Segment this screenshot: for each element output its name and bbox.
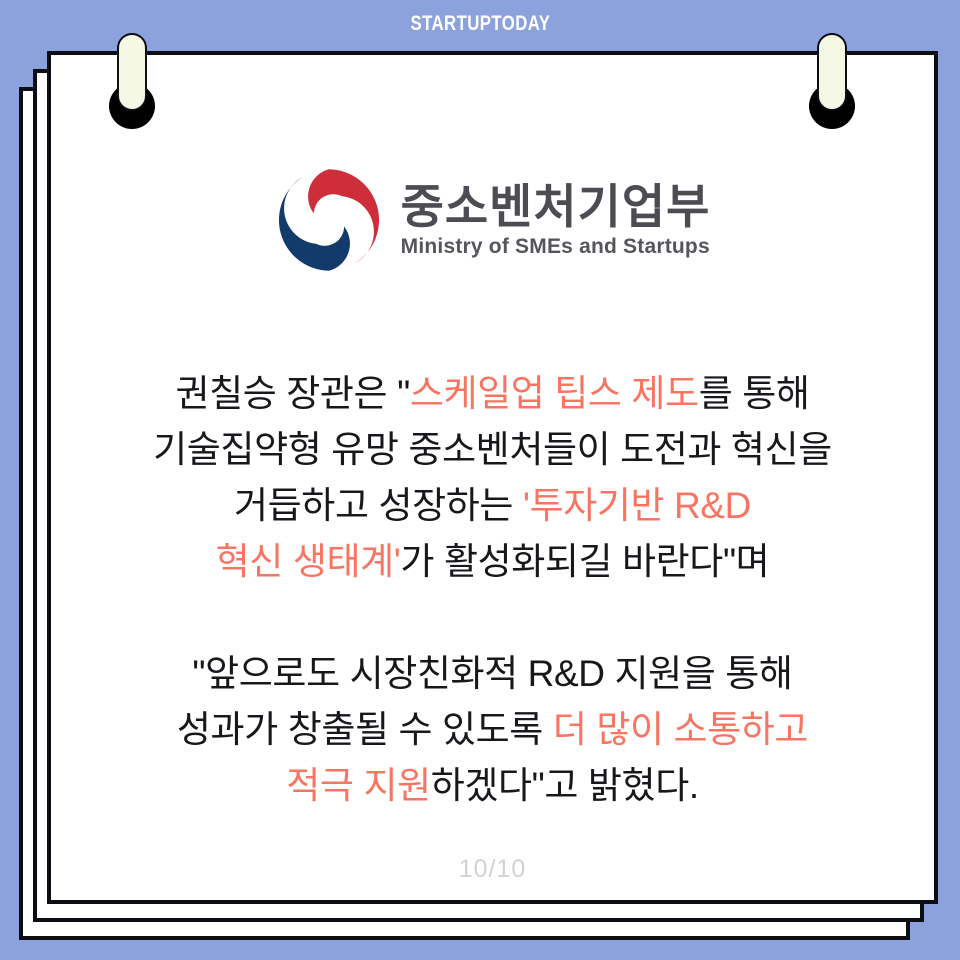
- quote-highlight: 스케일업 팁스 제도: [410, 373, 699, 414]
- card-root: STARTUPTODAY 중소벤처기업부 Ministry of SMEs an…: [0, 0, 960, 960]
- quote-text: 권칠승 장관은 ": [175, 373, 409, 414]
- quote-line: 적극 지원하겠다"고 밝혔다.: [47, 758, 938, 814]
- card-content: 중소벤처기업부 Ministry of SMEs and Startups 권칠…: [47, 51, 938, 904]
- quote-line: 권칠승 장관은 "스케일업 팁스 제도를 통해: [47, 366, 938, 422]
- ministry-name-english: Ministry of SMEs and Startups: [401, 235, 710, 258]
- quote-text: 거듭하고 성장하는: [234, 485, 523, 526]
- quote-text: 를 통해: [699, 373, 810, 414]
- quote-line: 혁신 생태계'가 활성화되길 바란다"며: [47, 534, 938, 590]
- brand-name: STARTUPTODAY: [410, 12, 550, 36]
- quote-paragraph-1: 권칠승 장관은 "스케일업 팁스 제도를 통해기술집약형 유망 중소벤처들이 도…: [47, 366, 938, 590]
- quote-text: 가 활성화되길 바란다"며: [400, 541, 769, 582]
- quote-text: "앞으로도 시장친화적 R&D 지원을 통해: [192, 653, 792, 694]
- brand-header: STARTUPTODAY: [0, 12, 960, 36]
- quote-line: 거듭하고 성장하는 '투자기반 R&D: [47, 478, 938, 534]
- quote-text: 기술집약형 유망 중소벤처들이 도전과 혁신을: [153, 429, 832, 470]
- quote-text: 하겠다"고 밝혔다.: [431, 765, 699, 806]
- quote-line: 기술집약형 유망 중소벤처들이 도전과 혁신을: [47, 422, 938, 478]
- quote-highlight: 더 많이 소통하고: [553, 709, 808, 750]
- quote-highlight: 적극 지원: [286, 765, 430, 806]
- quote-line: 성과가 창출될 수 있도록 더 많이 소통하고: [47, 702, 938, 758]
- quote-body: 권칠승 장관은 "스케일업 팁스 제도를 통해기술집약형 유망 중소벤처들이 도…: [47, 366, 938, 814]
- quote-highlight: 혁신 생태계': [216, 541, 401, 582]
- quote-paragraph-2: "앞으로도 시장친화적 R&D 지원을 통해성과가 창출될 수 있도록 더 많이…: [47, 646, 938, 814]
- page-counter: 10/10: [47, 855, 938, 884]
- quote-line: "앞으로도 시장친화적 R&D 지원을 통해: [47, 646, 938, 702]
- taegeuk-icon: [275, 166, 383, 274]
- quote-highlight: '투자기반 R&D: [523, 485, 751, 526]
- ministry-logo: 중소벤처기업부 Ministry of SMEs and Startups: [47, 166, 938, 274]
- quote-text: 성과가 창출될 수 있도록: [177, 709, 553, 750]
- ministry-name-korean: 중소벤처기업부: [401, 182, 711, 231]
- ministry-wordmark: 중소벤처기업부 Ministry of SMEs and Startups: [401, 182, 711, 258]
